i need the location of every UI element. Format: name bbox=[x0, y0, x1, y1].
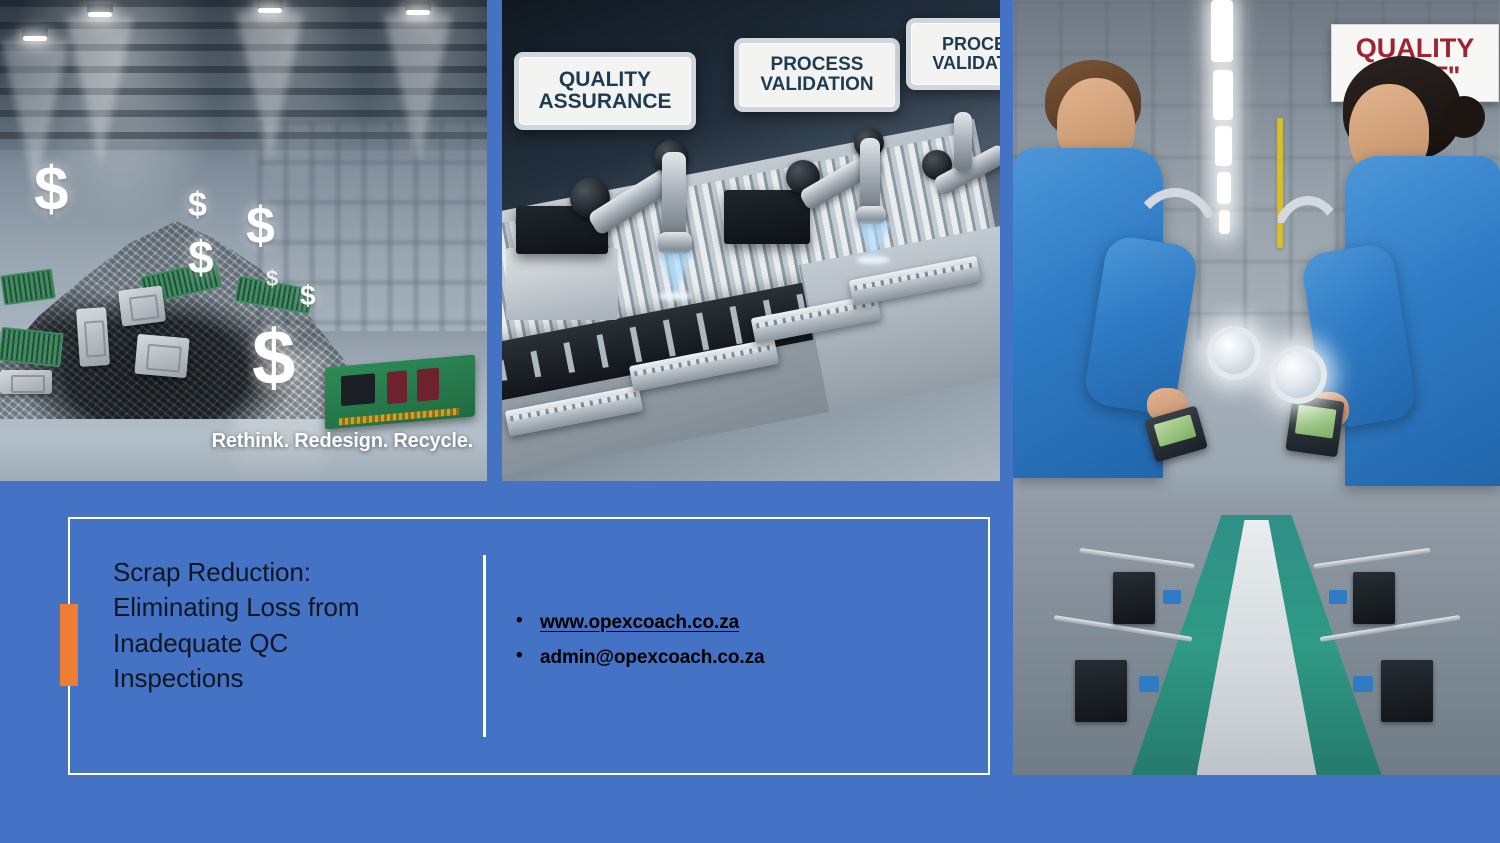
sign-line-1: QUALITY bbox=[538, 69, 671, 91]
ceiling-light-icon bbox=[1219, 210, 1230, 234]
email-text[interactable]: admin@opexcoach.co.za bbox=[540, 647, 764, 668]
ceiling-light-icon bbox=[1217, 172, 1231, 204]
ceiling-light-icon bbox=[1213, 70, 1233, 120]
laser-scan-point bbox=[856, 256, 890, 264]
scrap-device bbox=[134, 334, 189, 378]
dollar-symbol: $ bbox=[188, 188, 207, 222]
line-fixture bbox=[1353, 572, 1395, 624]
electronic-waste-warehouse-photo: $ $ $ $ $ $ $ Rethink. Redesign. Recycle… bbox=[0, 0, 487, 481]
ceiling-light-icon bbox=[1211, 0, 1233, 62]
orange-accent-bar bbox=[60, 604, 78, 686]
large-circuit-board bbox=[325, 354, 475, 429]
process-validation-sign-1: PROCESS VALIDATION bbox=[734, 38, 900, 112]
scrap-device bbox=[118, 285, 166, 326]
magnifier-lamp-head bbox=[1269, 346, 1327, 404]
magnifier-lamp-head bbox=[1207, 326, 1261, 380]
laser-scan-beam bbox=[857, 222, 891, 260]
circuit-board bbox=[0, 269, 56, 306]
robot-base bbox=[724, 190, 810, 244]
scrap-device bbox=[0, 370, 52, 394]
line-fixture bbox=[1113, 572, 1155, 624]
sign-line-1: PROCESS bbox=[932, 35, 1000, 54]
robot-arm-segment bbox=[662, 152, 686, 238]
title-line: Eliminating Loss from bbox=[113, 590, 443, 625]
laser-scan-point bbox=[658, 292, 692, 300]
contact-list: www.opexcoach.co.za admin@opexcoach.co.z… bbox=[510, 612, 930, 682]
photo-caption: Rethink. Redesign. Recycle. bbox=[212, 430, 473, 453]
line-fixture bbox=[1381, 660, 1433, 722]
robot-arm-segment bbox=[954, 112, 972, 172]
qc-inspectors-photo: QUALITY FIRST" bbox=[1013, 0, 1500, 775]
dollar-symbol: $ bbox=[252, 318, 295, 396]
title-line: Inspections bbox=[113, 661, 443, 696]
title-line: Scrap Reduction: bbox=[113, 555, 443, 590]
robotic-quality-assurance-photo: QUALITY ASSURANCE PROCESS VALIDATION PRO… bbox=[502, 0, 1000, 481]
website-link-item[interactable]: www.opexcoach.co.za bbox=[510, 612, 930, 634]
vertical-divider bbox=[483, 555, 486, 737]
dollar-symbol: $ bbox=[300, 282, 316, 310]
circuit-board bbox=[0, 327, 64, 367]
sign-line-2: ASSURANCE bbox=[538, 91, 671, 113]
email-item[interactable]: admin@opexcoach.co.za bbox=[510, 647, 930, 669]
slide-title: Scrap Reduction: Eliminating Loss from I… bbox=[113, 555, 443, 696]
laser-scan-beam bbox=[658, 252, 692, 296]
robot-arm-segment bbox=[860, 138, 880, 212]
ceiling-light-icon bbox=[1215, 126, 1232, 166]
presentation-slide: $ $ $ $ $ $ $ Rethink. Redesign. Recycle… bbox=[0, 0, 1500, 843]
sign-line-1: PROCESS bbox=[760, 55, 873, 75]
line-fixture bbox=[1075, 660, 1127, 722]
dollar-symbol: $ bbox=[266, 268, 278, 290]
quality-assurance-sign: QUALITY ASSURANCE bbox=[514, 52, 696, 130]
robot-pedestal bbox=[506, 248, 618, 320]
process-validation-sign-2: PROCESS VALIDATION bbox=[906, 18, 1000, 90]
sign-line-2: VALIDATION bbox=[760, 75, 873, 95]
clamp bbox=[1163, 590, 1181, 604]
website-link-text[interactable]: www.opexcoach.co.za bbox=[540, 612, 739, 633]
title-line: Inadequate QC bbox=[113, 626, 443, 661]
clamp bbox=[1139, 676, 1159, 692]
handheld-inspection-device bbox=[1285, 395, 1344, 458]
scrap-device bbox=[76, 307, 110, 367]
clamp bbox=[1353, 676, 1373, 692]
clamp bbox=[1329, 590, 1347, 604]
hair-bun bbox=[1443, 96, 1485, 138]
robot-end-effector bbox=[658, 232, 692, 254]
dollar-symbol: $ bbox=[188, 234, 214, 280]
dollar-symbol: $ bbox=[34, 159, 68, 221]
dollar-symbol: $ bbox=[246, 200, 275, 252]
sign-line-2: VALIDATION bbox=[932, 54, 1000, 73]
